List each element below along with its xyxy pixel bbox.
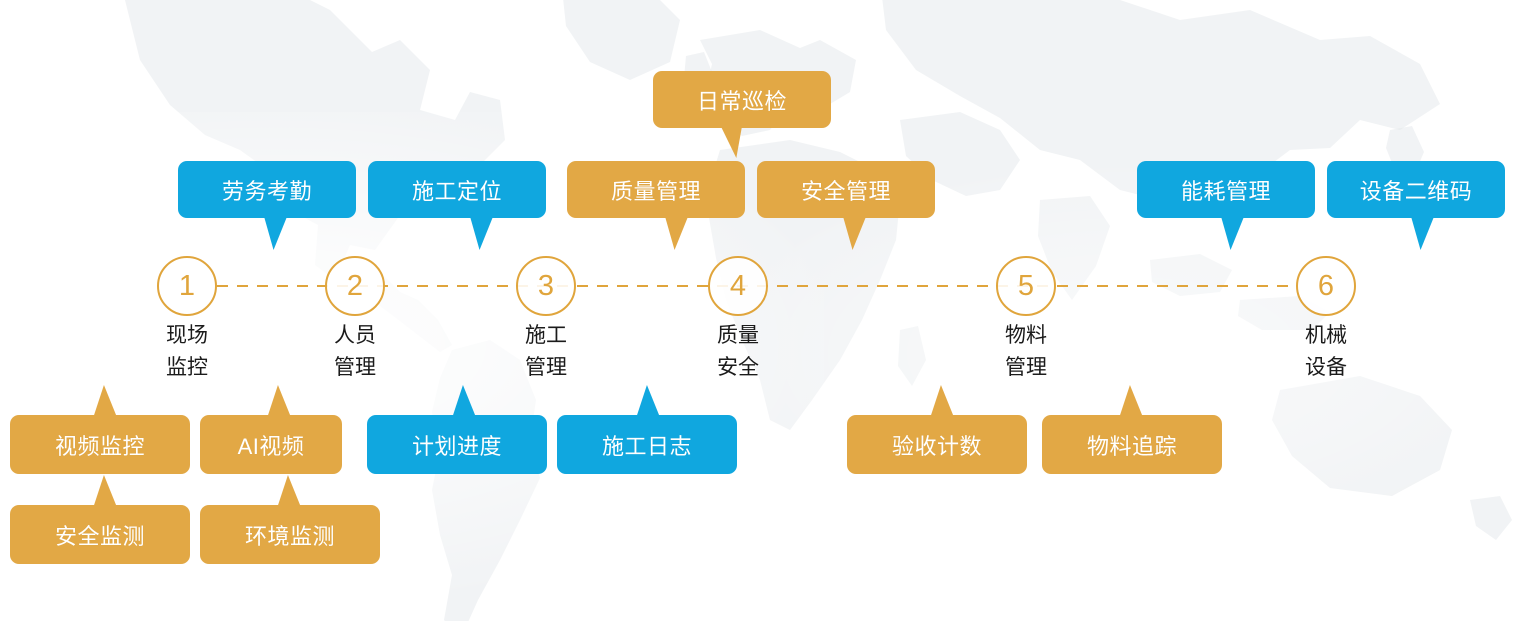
- callout-tail: [441, 385, 475, 415]
- callout-construction-log[interactable]: 施工日志: [557, 415, 737, 474]
- callout-tail: [458, 218, 493, 250]
- callout-label: 设备二维码: [1360, 174, 1473, 206]
- callout-label: 验收计数: [892, 429, 982, 461]
- callout-tail: [82, 385, 116, 415]
- callout-plan-progress[interactable]: 计划进度: [367, 415, 547, 474]
- callout-tail: [82, 475, 116, 505]
- callout-label: 计划进度: [412, 429, 502, 461]
- callout-labor-attendance[interactable]: 劳务考勤: [178, 161, 356, 218]
- callout-safety-management[interactable]: 安全管理: [757, 161, 935, 218]
- node-2-label: 人员 管理: [295, 320, 415, 383]
- callout-tail: [1108, 385, 1142, 415]
- callout-video-surveillance[interactable]: 视频监控: [10, 415, 190, 474]
- callout-tail: [653, 218, 688, 250]
- node-1-label: 现场 监控: [127, 320, 247, 383]
- node-number: 6: [1318, 272, 1334, 301]
- node-number: 4: [730, 272, 746, 301]
- node-number: 3: [538, 272, 554, 301]
- callout-material-tracking[interactable]: 物料追踪: [1042, 415, 1222, 474]
- callout-label: 环境监测: [245, 519, 335, 551]
- node-number: 5: [1018, 272, 1034, 301]
- node-4[interactable]: 4: [708, 256, 768, 316]
- callout-quality-management[interactable]: 质量管理: [567, 161, 745, 218]
- node-6-label: 机械 设备: [1266, 320, 1386, 383]
- callout-label: 施工日志: [602, 429, 692, 461]
- callout-label: 日常巡检: [697, 84, 787, 116]
- node-5-label: 物料 管理: [966, 320, 1086, 383]
- callout-tail: [831, 218, 866, 250]
- node-number: 1: [179, 272, 195, 301]
- callout-safety-monitoring[interactable]: 安全监测: [10, 505, 190, 564]
- callout-tail: [722, 128, 757, 158]
- callout-daily-inspection[interactable]: 日常巡检: [653, 71, 831, 128]
- callout-label: 质量管理: [611, 174, 701, 206]
- callout-label: 劳务考勤: [222, 174, 312, 206]
- callout-label: 安全监测: [55, 519, 145, 551]
- node-2[interactable]: 2: [325, 256, 385, 316]
- callout-label: AI视频: [238, 429, 305, 461]
- background-glow-secondary: [702, 161, 1526, 546]
- node-5[interactable]: 5: [996, 256, 1056, 316]
- node-1[interactable]: 1: [157, 256, 217, 316]
- callout-tail: [256, 385, 290, 415]
- callout-environment-monitoring[interactable]: 环境监测: [200, 505, 380, 564]
- callout-tail: [1209, 218, 1244, 250]
- callout-tail: [252, 218, 287, 250]
- node-4-label: 质量 安全: [678, 320, 798, 383]
- callout-construction-positioning[interactable]: 施工定位: [368, 161, 546, 218]
- callout-energy-management[interactable]: 能耗管理: [1137, 161, 1315, 218]
- callout-tail: [1399, 218, 1434, 250]
- callout-tail: [266, 475, 300, 505]
- node-6[interactable]: 6: [1296, 256, 1356, 316]
- callout-equipment-qr-code[interactable]: 设备二维码: [1327, 161, 1505, 218]
- callout-label: 能耗管理: [1181, 174, 1271, 206]
- diagram-canvas: 日常巡检 劳务考勤 施工定位 质量管理 安全管理 能耗管理 设备二维码 1 现场…: [0, 0, 1526, 621]
- callout-label: 视频监控: [55, 429, 145, 461]
- callout-ai-video[interactable]: AI视频: [200, 415, 342, 474]
- callout-label: 物料追踪: [1087, 429, 1177, 461]
- node-number: 2: [347, 272, 363, 301]
- callout-tail: [919, 385, 953, 415]
- callout-acceptance-count[interactable]: 验收计数: [847, 415, 1027, 474]
- node-3[interactable]: 3: [516, 256, 576, 316]
- callout-label: 安全管理: [801, 174, 891, 206]
- callout-tail: [625, 385, 659, 415]
- callout-label: 施工定位: [412, 174, 502, 206]
- node-3-label: 施工 管理: [486, 320, 606, 383]
